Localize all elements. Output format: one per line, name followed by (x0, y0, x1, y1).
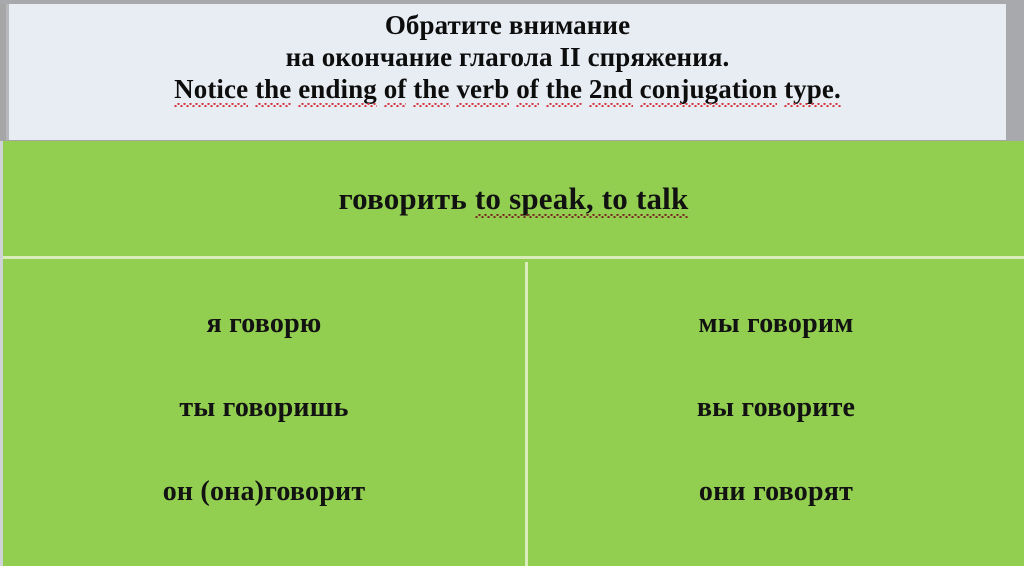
spellcheck-word: type. (784, 74, 841, 106)
note-line-1: Обратите внимание (385, 10, 630, 42)
verb-translation: to speak, to talk (475, 181, 689, 217)
verb-spacer (467, 181, 475, 216)
spellcheck-word: the (255, 74, 291, 106)
table-cell-plural-3: они говорят (528, 450, 1024, 534)
table-cell-singular-3: он (она)говорит (3, 450, 525, 534)
table-cell-singular-2: ты говоришь (3, 366, 525, 450)
spellcheck-word: Notice (174, 74, 248, 106)
note-line-3-english: Notice the ending of the verb of the 2nd… (174, 74, 841, 106)
spellcheck-word: the (413, 74, 449, 106)
attention-note-box: Обратите внимание на окончание глагола I… (6, 4, 1006, 140)
spellcheck-word: of (516, 74, 539, 106)
verb-heading: говорить to speak, to talk (339, 181, 689, 217)
spellcheck-word: 2nd (589, 74, 633, 106)
verb-heading-row: говорить to speak, to talk (3, 141, 1024, 259)
spellcheck-word: ending (298, 74, 377, 106)
right-gray-margin (1006, 0, 1024, 141)
table-cell-singular-1: я говорю (3, 282, 525, 366)
note-line-2: на окончание глагола II спряжения. (286, 42, 730, 74)
plural-column: мы говорим вы говорите они говорят (528, 262, 1024, 566)
spellcheck-word: the (546, 74, 582, 106)
conjugation-grid: я говорю ты говоришь он (она)говорит мы … (3, 262, 1024, 566)
spellcheck-word: of (384, 74, 407, 106)
singular-column: я говорю ты говоришь он (она)говорит (3, 262, 528, 566)
table-cell-plural-2: вы говорите (528, 366, 1024, 450)
spellcheck-word: conjugation (640, 74, 778, 106)
conjugation-table: говорить to speak, to talk я говорю ты г… (0, 141, 1024, 566)
verb-infinitive: говорить (339, 181, 467, 216)
table-cell-plural-1: мы говорим (528, 282, 1024, 366)
spellcheck-word: verb (456, 74, 509, 106)
slide-canvas: Обратите внимание на окончание глагола I… (0, 0, 1024, 566)
